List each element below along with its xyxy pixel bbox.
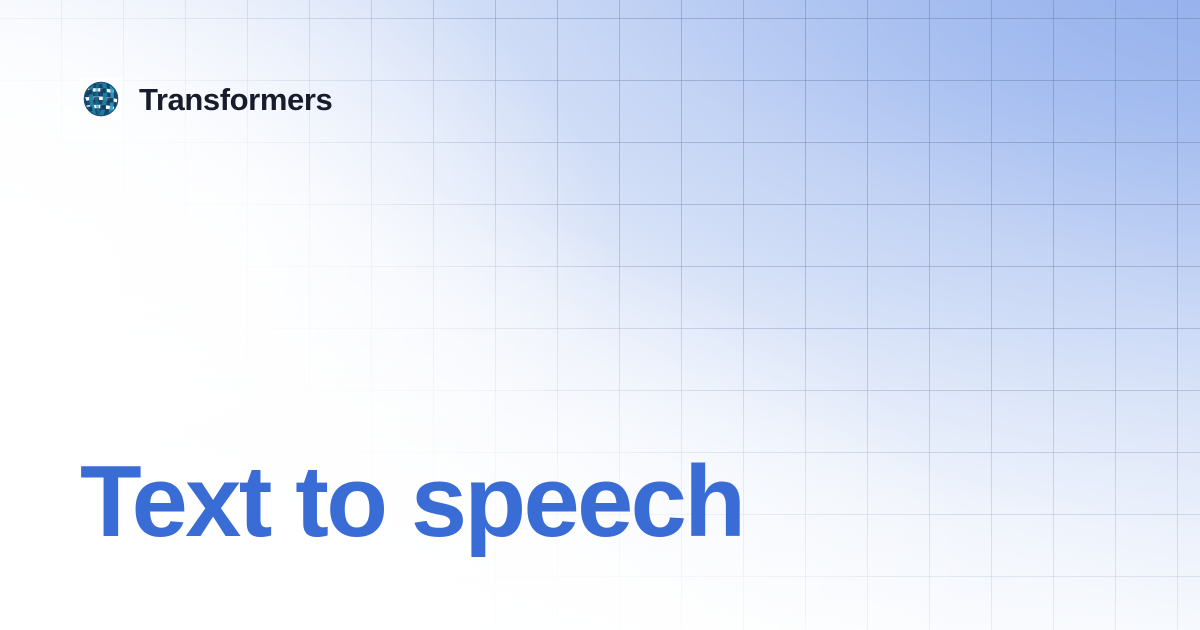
page-title: Text to speech (80, 449, 1120, 556)
brand-name: Transformers (139, 84, 332, 115)
brand: Transformers (80, 78, 332, 120)
striped-globe-icon (80, 78, 122, 120)
social-card: Transformers Text to speech (0, 0, 1200, 630)
